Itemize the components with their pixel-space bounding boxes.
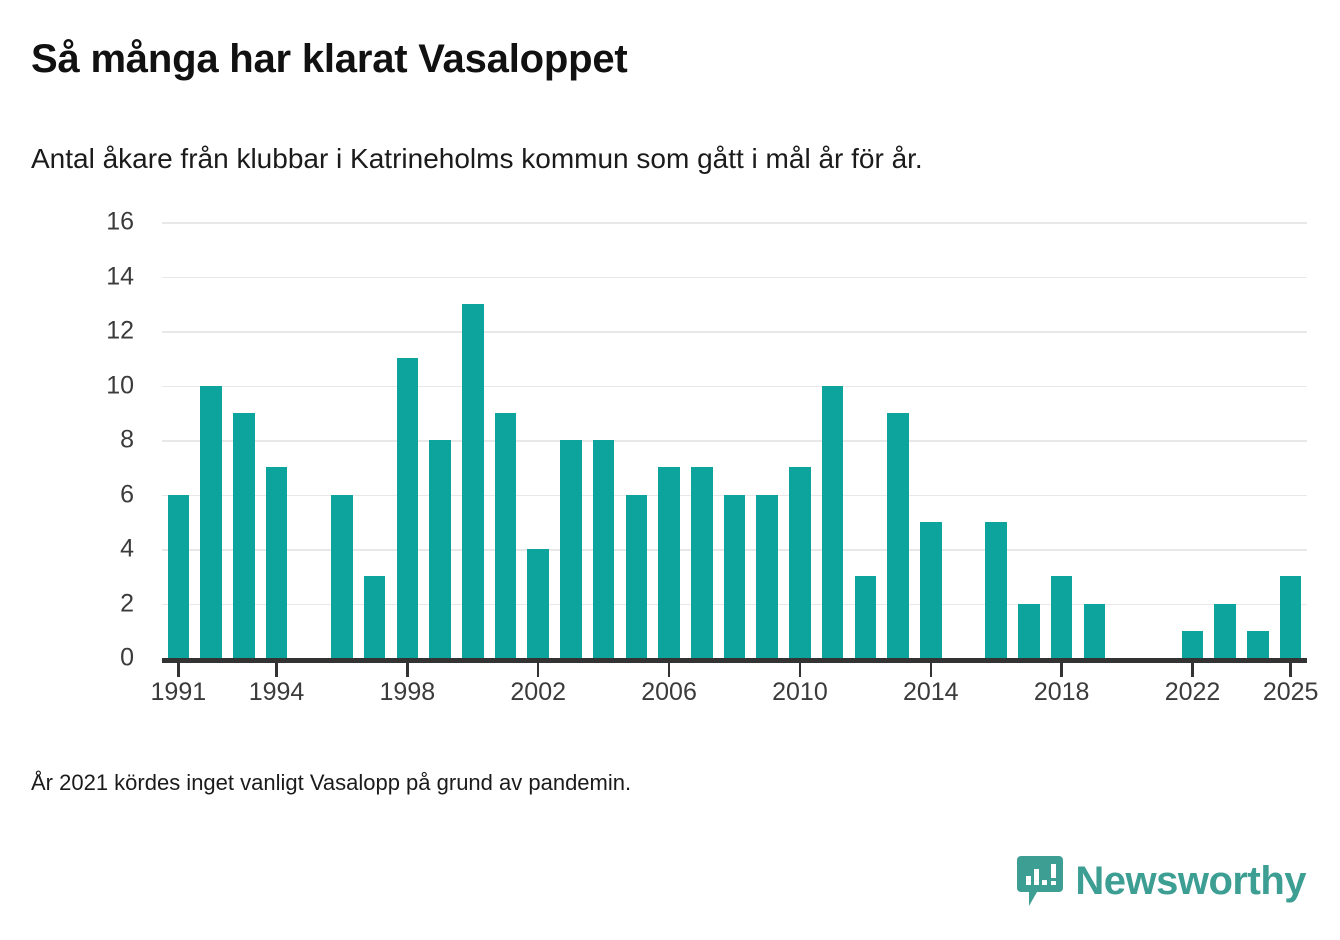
bar[interactable] [364, 576, 386, 658]
x-axis-tick [930, 663, 933, 677]
x-axis-tick [275, 663, 278, 677]
bar[interactable] [233, 413, 255, 658]
bar[interactable] [691, 467, 713, 658]
bar[interactable] [822, 386, 844, 659]
bar[interactable] [1051, 576, 1073, 658]
bar-chart: 0246810121416 19911994199820022006201020… [31, 208, 1311, 708]
newsworthy-logo[interactable]: Newsworthy [1017, 856, 1306, 906]
bar[interactable] [855, 576, 877, 658]
x-axis-tick-label: 1991 [151, 678, 207, 707]
chart-page: Så många har klarat Vasaloppet Antal åka… [0, 0, 1340, 940]
y-axis-labels: 0246810121416 [31, 208, 156, 658]
bar[interactable] [756, 495, 778, 659]
x-axis-tick [177, 663, 180, 677]
bar[interactable] [527, 549, 549, 658]
bar[interactable] [724, 495, 746, 659]
y-axis-tick-label: 14 [106, 262, 134, 291]
x-axis-labels: 1991199419982002200620102014201820222025 [162, 678, 1307, 718]
bar[interactable] [560, 440, 582, 658]
y-axis-tick-label: 6 [120, 480, 134, 509]
bar[interactable] [1247, 631, 1269, 658]
bar[interactable] [429, 440, 451, 658]
bar[interactable] [593, 440, 615, 658]
y-axis-tick-label: 10 [106, 371, 134, 400]
x-axis-tick-label: 2006 [641, 678, 697, 707]
x-axis-tick [406, 663, 409, 677]
bar[interactable] [495, 413, 517, 658]
x-axis-tick-label: 2018 [1034, 678, 1090, 707]
bar[interactable] [789, 467, 811, 658]
chart-footnote: År 2021 kördes inget vanligt Vasalopp på… [31, 770, 631, 796]
logo-wordmark: Newsworthy [1075, 861, 1306, 901]
x-axis-tick [537, 663, 540, 677]
plot-area [162, 222, 1307, 658]
bar[interactable] [985, 522, 1007, 658]
page-title: Så många har klarat Vasaloppet [31, 38, 627, 80]
bar[interactable] [462, 304, 484, 658]
y-axis-tick-label: 4 [120, 535, 134, 564]
x-axis-tick [1289, 663, 1292, 677]
bar-chart-speech-bubble-icon [1017, 856, 1063, 906]
bar[interactable] [331, 495, 353, 659]
x-axis-tick [799, 663, 802, 677]
x-axis-tick [668, 663, 671, 677]
x-axis-tick-label: 2025 [1263, 678, 1319, 707]
page-subtitle: Antal åkare från klubbar i Katrineholms … [31, 142, 923, 176]
bar[interactable] [920, 522, 942, 658]
bar[interactable] [168, 495, 190, 659]
bar[interactable] [1280, 576, 1302, 658]
x-axis-tick [1191, 663, 1194, 677]
bar[interactable] [887, 413, 909, 658]
x-axis-tick-label: 2014 [903, 678, 959, 707]
bar[interactable] [266, 467, 288, 658]
bar[interactable] [626, 495, 648, 659]
bar[interactable] [397, 358, 419, 658]
bar[interactable] [1084, 604, 1106, 659]
x-axis-tick-label: 2022 [1165, 678, 1221, 707]
x-axis-tick-label: 1994 [249, 678, 305, 707]
x-axis-ticks [162, 663, 1307, 677]
x-axis-tick-label: 2010 [772, 678, 828, 707]
x-axis-tick-label: 1998 [380, 678, 436, 707]
bar[interactable] [658, 467, 680, 658]
y-axis-tick-label: 16 [106, 208, 134, 237]
bar[interactable] [1018, 604, 1040, 659]
bar[interactable] [1182, 631, 1204, 658]
x-axis-tick [1060, 663, 1063, 677]
y-axis-tick-label: 8 [120, 426, 134, 455]
bar[interactable] [200, 386, 222, 659]
y-axis-tick-label: 12 [106, 317, 134, 346]
y-axis-tick-label: 2 [120, 589, 134, 618]
y-axis-tick-label: 0 [120, 644, 134, 673]
x-axis-tick-label: 2002 [510, 678, 566, 707]
bar[interactable] [1214, 604, 1236, 659]
bar-series [162, 222, 1307, 658]
